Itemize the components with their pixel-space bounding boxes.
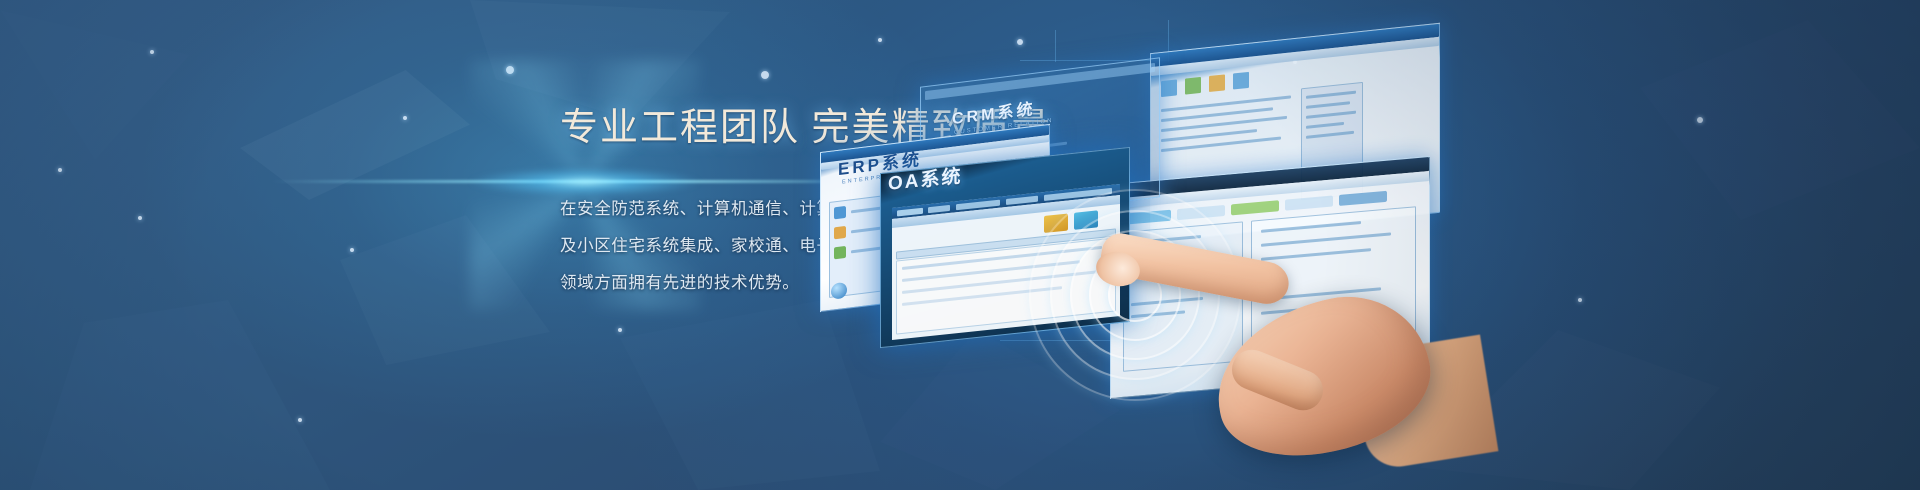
hero-banner: 专业工程团队 完美精致质量 在安全防范系统、计算机通信、计算机网络、智能大厦 及… <box>0 0 1920 490</box>
nav-item-icon[interactable] <box>834 246 846 259</box>
circuit-trace <box>1055 30 1056 62</box>
tab-button[interactable] <box>1231 200 1279 215</box>
ribbon-button[interactable] <box>1161 79 1177 97</box>
tab-button[interactable] <box>1339 191 1387 206</box>
polygon-shard <box>30 300 330 490</box>
ribbon-button[interactable] <box>1233 72 1249 90</box>
nav-item-icon[interactable] <box>834 206 846 219</box>
window-titlebar <box>925 63 1155 100</box>
dust-speck <box>618 328 622 332</box>
dust-speck <box>350 248 354 252</box>
status-orb-icon <box>831 282 847 300</box>
dust-speck <box>58 168 62 172</box>
polygon-shard <box>0 10 190 160</box>
ribbon-button[interactable] <box>1209 74 1225 92</box>
dust-speck <box>150 50 154 54</box>
nav-item-icon[interactable] <box>834 226 846 239</box>
polygon-shard <box>620 300 880 490</box>
dust-speck <box>298 418 302 422</box>
dust-speck <box>403 116 407 120</box>
dust-speck <box>138 216 142 220</box>
dust-speck <box>761 71 769 79</box>
tab-button[interactable] <box>1285 195 1333 210</box>
dust-speck <box>878 38 882 42</box>
ribbon-button[interactable] <box>1185 77 1201 95</box>
pointing-hand <box>1110 232 1440 472</box>
